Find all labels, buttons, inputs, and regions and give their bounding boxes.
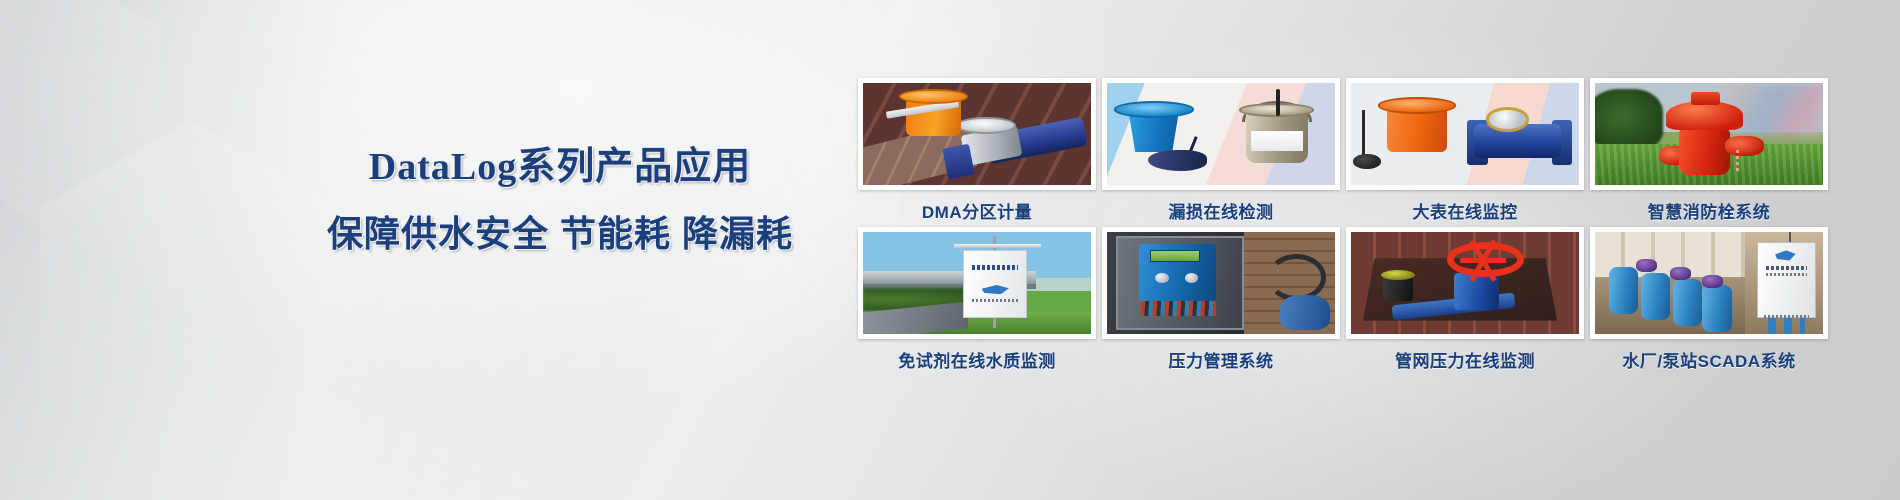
product-card-reagentless-water-quality[interactable]: 免试剂在线水质监测 <box>858 227 1096 372</box>
product-card-pipe-network-pressure[interactable]: 管网压力在线监测 <box>1346 227 1584 372</box>
hexagon-shape <box>300 300 540 500</box>
product-caption: 漏损在线检测 <box>1102 198 1340 223</box>
product-card-large-meter-monitoring[interactable]: 大表在线监控 <box>1346 78 1584 223</box>
pressure-management-image <box>1107 232 1335 334</box>
product-caption: 水厂/泵站SCADA系统 <box>1590 347 1828 372</box>
large-meter-online-monitoring-image <box>1351 83 1579 185</box>
thumbnail-frame[interactable] <box>1102 78 1340 190</box>
thumbnail-frame[interactable] <box>858 78 1096 190</box>
thumbnail-frame[interactable] <box>1590 78 1828 190</box>
product-caption: 免试剂在线水质监测 <box>858 347 1096 372</box>
headline-line-2: 保障供水安全 节能耗 降漏耗 <box>300 206 820 262</box>
product-caption: 压力管理系统 <box>1102 347 1340 372</box>
waterworks-pumpstation-scada-image <box>1595 232 1823 334</box>
thumbnail-frame[interactable] <box>1346 78 1584 190</box>
product-card-smart-fire-hydrant[interactable]: 智慧消防栓系统 <box>1590 78 1828 223</box>
product-card-leak-online-detection[interactable]: 漏损在线检测 <box>1102 78 1340 223</box>
leak-online-detection-image <box>1107 83 1335 185</box>
product-card-waterworks-scada[interactable]: 水厂/泵站SCADA系统 <box>1590 227 1828 372</box>
headline-block: DataLog系列产品应用 保障供水安全 节能耗 降漏耗 <box>300 140 820 262</box>
smart-fire-hydrant-image <box>1595 83 1823 185</box>
pipe-network-pressure-image <box>1351 232 1579 334</box>
product-caption: 大表在线监控 <box>1346 198 1584 223</box>
product-card-pressure-management[interactable]: 压力管理系统 <box>1102 227 1340 372</box>
hexagon-shape <box>0 0 160 226</box>
product-caption: 管网压力在线监测 <box>1346 347 1584 372</box>
dma-partition-metering-image <box>863 83 1091 185</box>
thumbnail-frame[interactable] <box>1590 227 1828 339</box>
thumbnail-frame[interactable] <box>858 227 1096 339</box>
product-caption: DMA分区计量 <box>858 198 1096 223</box>
thumbnail-frame[interactable] <box>1102 227 1340 339</box>
reagentless-water-quality-image <box>863 232 1091 334</box>
hexagon-shape <box>40 120 340 466</box>
thumbnail-frame[interactable] <box>1346 227 1584 339</box>
promo-banner: DataLog系列产品应用 保障供水安全 节能耗 降漏耗 DMA分区计量 <box>0 0 1900 500</box>
product-caption: 智慧消防栓系统 <box>1590 198 1828 223</box>
product-card-dma-partition-metering[interactable]: DMA分区计量 <box>858 78 1096 223</box>
headline-line-1: DataLog系列产品应用 <box>300 140 820 194</box>
product-grid: DMA分区计量 漏损在线检测 <box>858 78 1868 372</box>
